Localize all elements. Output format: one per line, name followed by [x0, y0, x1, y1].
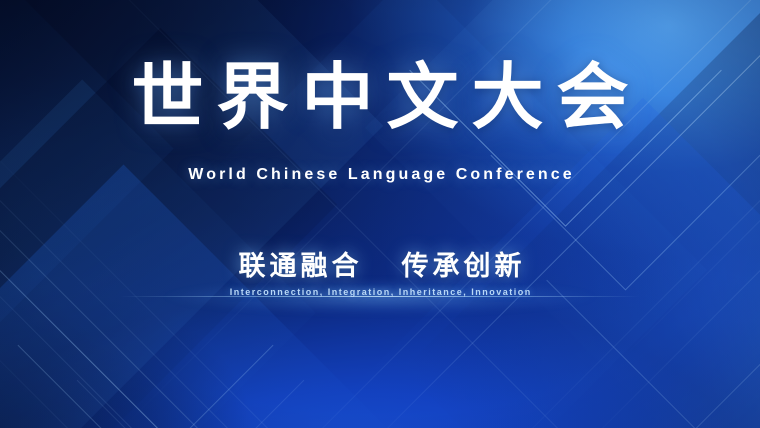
banner-title-chinese: 世界中文大会 — [0, 62, 760, 134]
slogan-phrase-1: 联通融合 — [238, 251, 362, 281]
banner-content: 世界中文大会 World Chinese Language Conference… — [0, 0, 760, 428]
banner-slogan-english: Interconnection, Integration, Inheritanc… — [0, 287, 760, 297]
banner-subtitle-english: World Chinese Language Conference — [0, 166, 760, 184]
conference-banner: 世界中文大会 World Chinese Language Conference… — [0, 0, 760, 428]
slogan-phrase-2: 传承创新 — [402, 251, 526, 281]
banner-slogan-chinese: 联通融合 传承创新 — [0, 252, 760, 282]
banner-slogan-block: 联通融合 传承创新 Interconnection, Integration, … — [0, 252, 760, 297]
